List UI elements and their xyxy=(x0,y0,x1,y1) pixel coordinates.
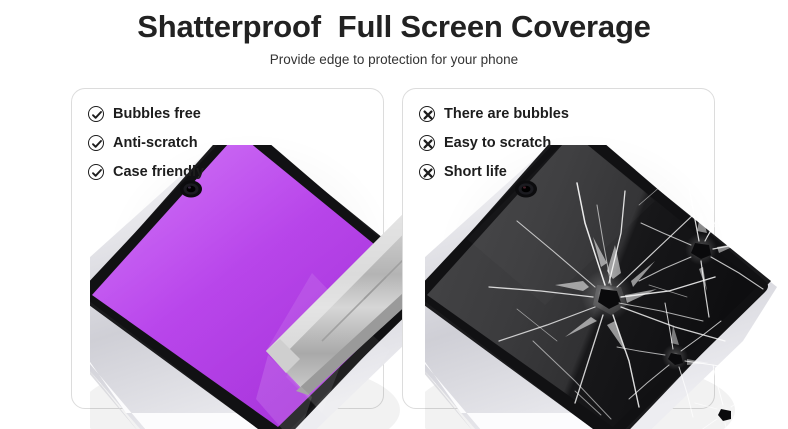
x-circle-icon xyxy=(419,135,435,151)
page-subtitle: Provide edge to protection for your phon… xyxy=(0,51,788,68)
unprotected-phone-panel: There are bubbles Easy to scratch Short … xyxy=(402,88,715,409)
feature-label: Anti-scratch xyxy=(113,135,198,151)
check-circle-icon xyxy=(88,106,104,122)
check-circle-icon xyxy=(88,135,104,151)
list-item: Easy to scratch xyxy=(419,130,569,155)
feature-label: There are bubbles xyxy=(444,106,569,122)
protected-feature-list: Bubbles free Anti-scratch Case friendly xyxy=(88,101,204,188)
list-item: Short life xyxy=(419,159,569,184)
x-circle-icon xyxy=(419,164,435,180)
feature-label: Easy to scratch xyxy=(444,135,551,151)
list-item: Bubbles free xyxy=(88,101,204,126)
check-circle-icon xyxy=(88,164,104,180)
x-circle-icon xyxy=(419,106,435,122)
page-title: Shatterproof Full Screen Coverage xyxy=(0,8,788,46)
feature-label: Short life xyxy=(444,164,507,180)
product-feature-banner: Shatterproof Full Screen Coverage Provid… xyxy=(0,0,788,429)
unprotected-feature-list: There are bubbles Easy to scratch Short … xyxy=(419,101,569,188)
list-item: Anti-scratch xyxy=(88,130,204,155)
crack-network xyxy=(489,179,771,429)
feature-label: Case friendly xyxy=(113,164,204,180)
list-item: Case friendly xyxy=(88,159,204,184)
feature-label: Bubbles free xyxy=(113,106,201,122)
list-item: There are bubbles xyxy=(419,101,569,126)
protected-phone-panel: Bubbles free Anti-scratch Case friendly xyxy=(71,88,384,409)
banner-header: Shatterproof Full Screen Coverage Provid… xyxy=(0,8,788,68)
